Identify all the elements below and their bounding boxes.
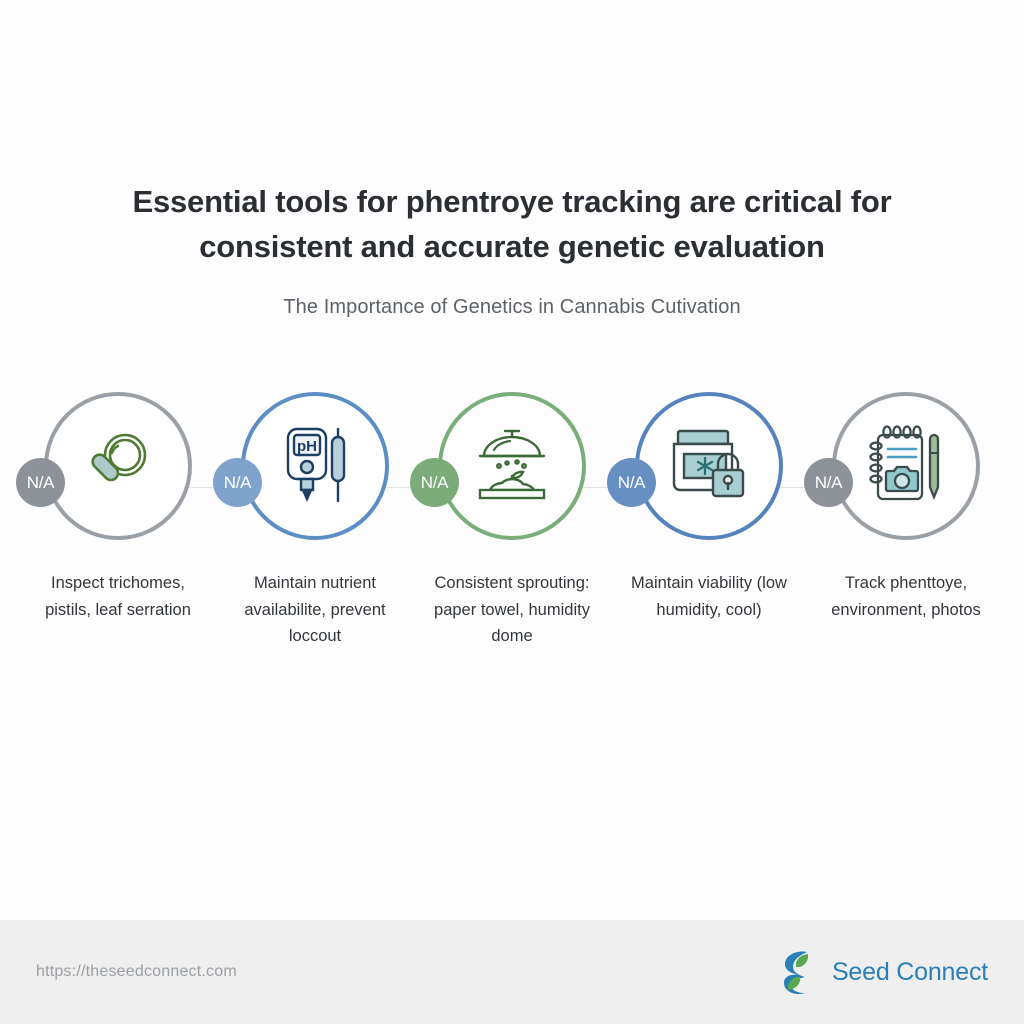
step-circle: pH xyxy=(241,392,389,540)
step-item[interactable]: N/A Track phenttoye, environment, photos xyxy=(808,392,1005,623)
step-icon-circle-wrap: N/A xyxy=(832,392,980,540)
footer: https://theseedconnect.com Seed Connect xyxy=(0,920,1024,1024)
step-item[interactable]: N/A Inspect trichomes, pistils, leaf ser… xyxy=(20,392,217,623)
step-caption: Inspect trichomes, pistils, leaf serrati… xyxy=(28,570,208,623)
step-icon-circle-wrap: N/A xyxy=(635,392,783,540)
step-circle xyxy=(44,392,192,540)
ph-meter-icon: pH xyxy=(274,423,356,509)
storage-jar-lock-icon xyxy=(666,426,752,506)
step-item[interactable]: N/A Consistent sprouting: paper towel, h… xyxy=(414,392,611,650)
steps-row: N/A Inspect trichomes, pistils, leaf ser… xyxy=(0,392,1024,650)
svg-text:pH: pH xyxy=(297,438,317,455)
step-caption: Consistent sprouting: paper towel, humid… xyxy=(422,570,602,650)
step-badge: N/A xyxy=(410,458,459,507)
magnifying-glass-icon xyxy=(77,425,159,507)
infographic-canvas: Essential tools for phentroye tracking a… xyxy=(0,0,1024,1024)
page-subtitle: The Importance of Genetics in Cannabis C… xyxy=(0,296,1024,319)
step-badge: N/A xyxy=(16,458,65,507)
step-badge: N/A xyxy=(804,458,853,507)
step-circle xyxy=(438,392,586,540)
step-item[interactable]: pH N/A Maintain nutrient availabilite, p… xyxy=(217,392,414,650)
step-circle xyxy=(635,392,783,540)
step-icon-circle-wrap: pH N/A xyxy=(241,392,389,540)
brand-name: Seed Connect xyxy=(832,958,988,987)
brand-lockup[interactable]: Seed Connect xyxy=(777,948,988,996)
notebook-camera-pen-icon xyxy=(864,423,948,509)
step-caption: Maintain nutrient availabilite, prevent … xyxy=(225,570,405,650)
step-caption: Maintain viability (low humidity, cool) xyxy=(619,570,799,623)
page-title: Essential tools for phentroye tracking a… xyxy=(112,180,912,270)
seed-connect-logo-icon xyxy=(777,948,819,996)
footer-url[interactable]: https://theseedconnect.com xyxy=(36,963,237,981)
humidity-dome-seedling-icon xyxy=(468,426,556,506)
step-icon-circle-wrap: N/A xyxy=(44,392,192,540)
step-badge: N/A xyxy=(213,458,262,507)
header: Essential tools for phentroye tracking a… xyxy=(0,180,1024,319)
step-badge: N/A xyxy=(607,458,656,507)
step-circle xyxy=(832,392,980,540)
step-icon-circle-wrap: N/A xyxy=(438,392,586,540)
step-caption: Track phenttoye, environment, photos xyxy=(816,570,996,623)
step-item[interactable]: N/A Maintain viability (low humidity, co… xyxy=(611,392,808,623)
